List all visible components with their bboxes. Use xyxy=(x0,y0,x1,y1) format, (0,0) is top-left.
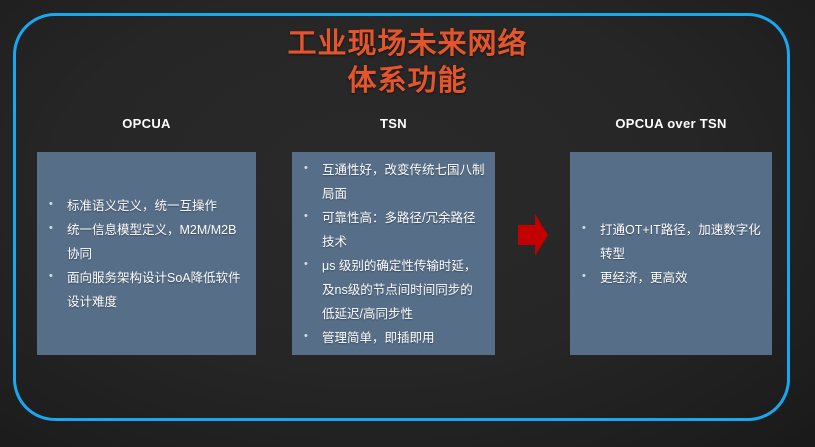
bullet-dot-icon: • xyxy=(578,218,600,239)
list-item-text: 互通性好，改变传统七国八制局面 xyxy=(322,158,485,206)
list-item-text: μs 级别的确定性传输时延，及ns级的节点间时间同步的低延迟/高同步性 xyxy=(322,254,485,326)
content-panel-opcua-over-tsn: • 打通OT+IT路径，加速数字化转型 • 更经济，更高效 xyxy=(570,152,772,355)
list-item-text: 面向服务架构设计SoA降低软件设计难度 xyxy=(67,266,246,314)
right-arrow-icon xyxy=(518,214,548,256)
list-item-text: 标准语义定义，统一互操作 xyxy=(67,194,246,218)
column-header-opcua-over-tsn: OPCUA over TSN xyxy=(570,116,772,131)
list-item: • 面向服务架构设计SoA降低软件设计难度 xyxy=(45,266,246,314)
bullet-dot-icon: • xyxy=(300,206,322,227)
list-item: • 管理简单，即插即用 xyxy=(300,326,485,350)
list-item: • 互通性好，改变传统七国八制局面 xyxy=(300,158,485,206)
list-item: • 更经济，更高效 xyxy=(578,266,762,290)
bullet-dot-icon: • xyxy=(45,266,67,287)
page-title: 工业现场未来网络 体系功能 xyxy=(0,26,815,100)
bullet-dot-icon: • xyxy=(300,158,322,179)
page-title-line-1: 工业现场未来网络 xyxy=(0,26,815,63)
bullet-list-tsn: • 互通性好，改变传统七国八制局面 • 可靠性高：多路径/冗余路径技术 • μs… xyxy=(300,158,485,350)
bullet-dot-icon: • xyxy=(300,254,322,275)
list-item-text: 管理简单，即插即用 xyxy=(322,326,485,350)
content-panel-tsn: • 互通性好，改变传统七国八制局面 • 可靠性高：多路径/冗余路径技术 • μs… xyxy=(292,152,495,355)
list-item-text: 打通OT+IT路径，加速数字化转型 xyxy=(600,218,762,266)
page-title-line-2: 体系功能 xyxy=(0,63,815,100)
bullet-list-opcua-over-tsn: • 打通OT+IT路径，加速数字化转型 • 更经济，更高效 xyxy=(578,218,762,290)
list-item: • 可靠性高：多路径/冗余路径技术 xyxy=(300,206,485,254)
content-panel-opcua: • 标准语义定义，统一互操作 • 统一信息模型定义，M2M/M2B协同 • 面向… xyxy=(37,152,256,355)
bullet-dot-icon: • xyxy=(45,194,67,215)
slide-canvas: 工业现场未来网络 体系功能 OPCUA TSN OPCUA over TSN •… xyxy=(0,0,815,447)
list-item: • 统一信息模型定义，M2M/M2B协同 xyxy=(45,218,246,266)
bullet-dot-icon: • xyxy=(300,326,322,347)
list-item: • 打通OT+IT路径，加速数字化转型 xyxy=(578,218,762,266)
column-header-opcua: OPCUA xyxy=(37,116,256,131)
list-item: • μs 级别的确定性传输时延，及ns级的节点间时间同步的低延迟/高同步性 xyxy=(300,254,485,326)
list-item-text: 可靠性高：多路径/冗余路径技术 xyxy=(322,206,485,254)
bullet-dot-icon: • xyxy=(578,266,600,287)
bullet-list-opcua: • 标准语义定义，统一互操作 • 统一信息模型定义，M2M/M2B协同 • 面向… xyxy=(45,194,246,314)
list-item-text: 更经济，更高效 xyxy=(600,266,762,290)
list-item: • 标准语义定义，统一互操作 xyxy=(45,194,246,218)
bullet-dot-icon: • xyxy=(45,218,67,239)
list-item-text: 统一信息模型定义，M2M/M2B协同 xyxy=(67,218,246,266)
column-header-tsn: TSN xyxy=(292,116,495,131)
